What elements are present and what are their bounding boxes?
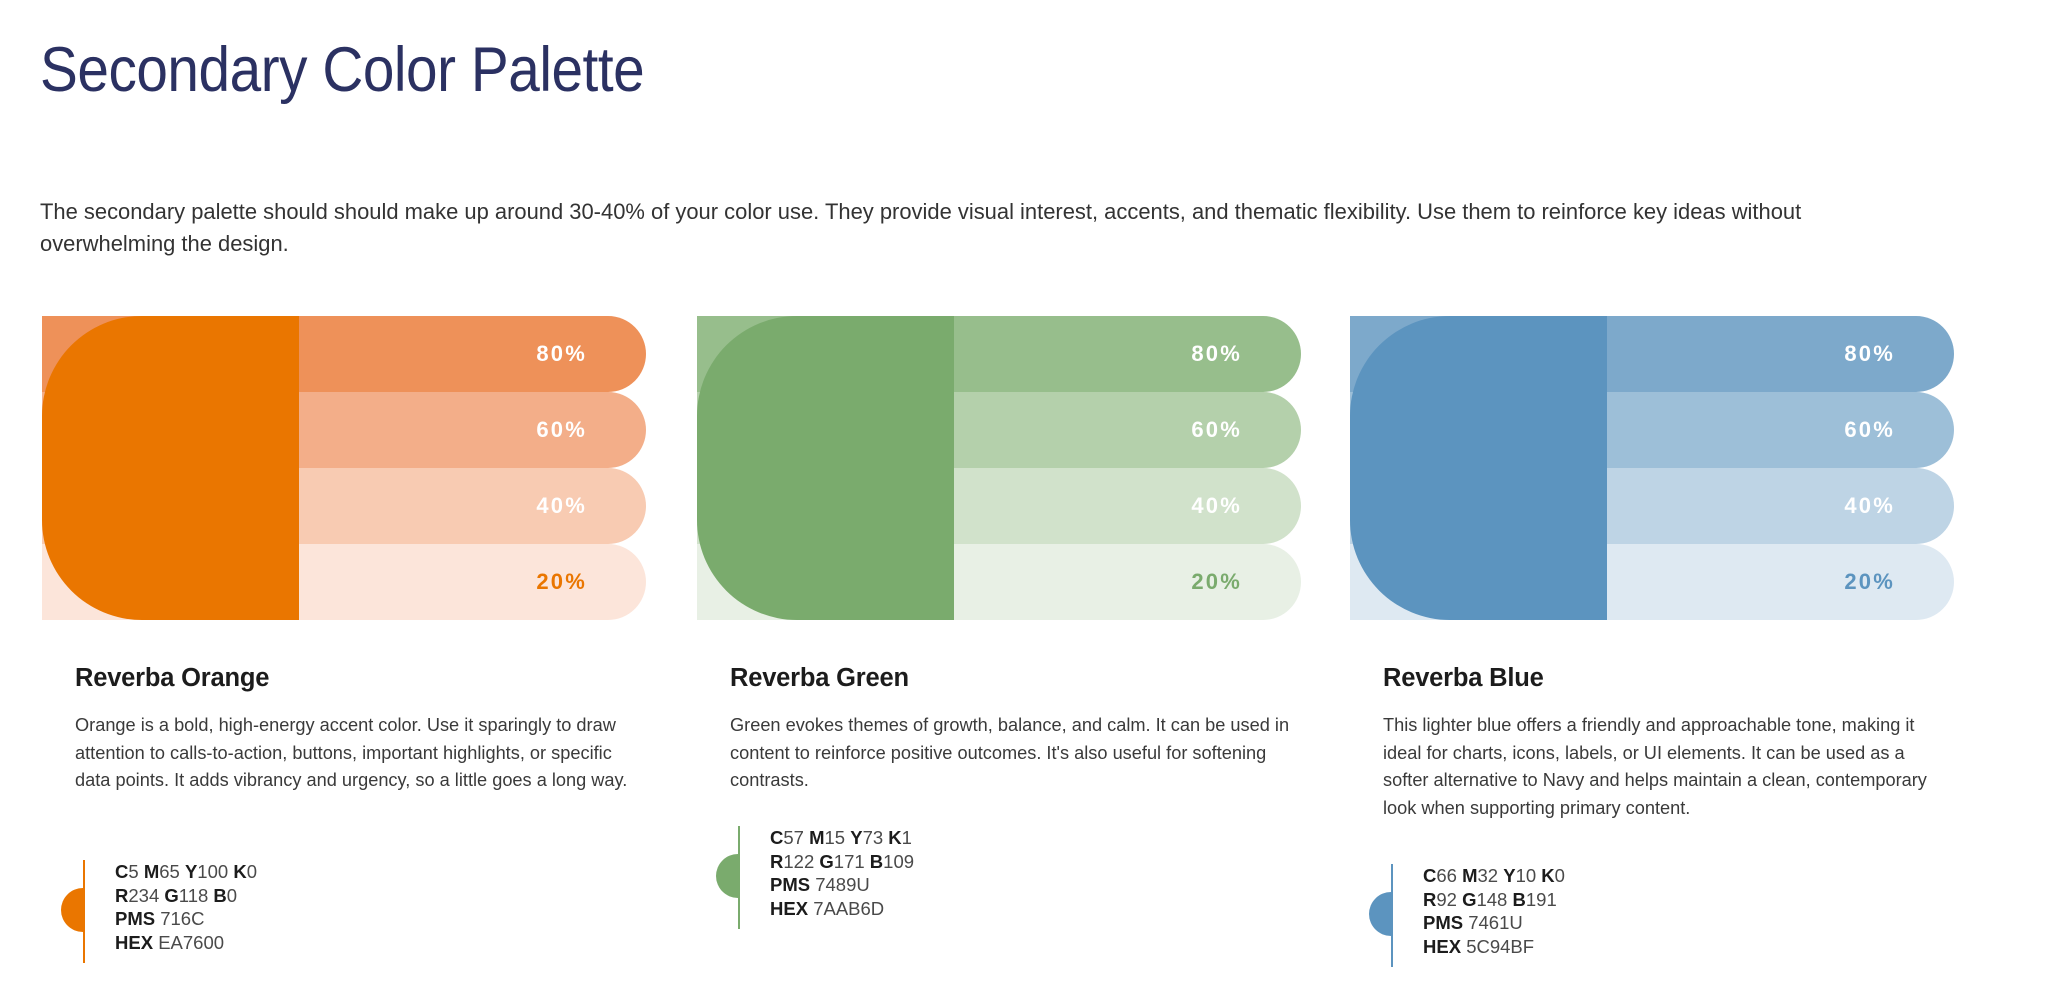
color-name: Reverba Blue — [1383, 664, 1544, 693]
spec-line-cmyk: C66 M32 Y10 K0 — [1423, 864, 1565, 888]
tint-label-40: 40% — [1191, 493, 1242, 519]
spec-line-rgb: R122 G171 B109 — [770, 850, 914, 874]
tint-label-40: 40% — [1844, 493, 1895, 519]
palette-card-1: 80% 60% 40% 20% Reverba Green Green evok… — [697, 0, 1351, 1004]
tint-label-80: 80% — [1844, 341, 1895, 367]
spec-values: C57 M15 Y73 K1 R122 G171 B109 PMS 7489U … — [770, 826, 914, 920]
spec-dot-icon — [61, 888, 83, 932]
tint-label-20: 20% — [1191, 569, 1242, 595]
color-spec-block: C57 M15 Y73 K1 R122 G171 B109 PMS 7489U … — [738, 826, 914, 920]
swatch-base-block — [42, 316, 299, 620]
tint-label-60: 60% — [1844, 417, 1895, 443]
tint-label-80: 80% — [536, 341, 587, 367]
color-description: This lighter blue offers a friendly and … — [1383, 712, 1953, 822]
spec-line-hex: HEX EA7600 — [115, 931, 257, 955]
spec-rule-line — [738, 826, 740, 929]
spec-rule-line — [83, 860, 85, 963]
spec-dot-icon — [716, 854, 738, 898]
tint-label-40: 40% — [536, 493, 587, 519]
color-swatch-0: 80% 60% 40% 20% — [42, 316, 646, 620]
spec-line-cmyk: C57 M15 Y73 K1 — [770, 826, 914, 850]
swatch-base-block — [697, 316, 954, 620]
spec-line-rgb: R234 G118 B0 — [115, 884, 257, 908]
spec-line-rgb: R92 G148 B191 — [1423, 888, 1565, 912]
spec-line-pms: PMS 716C — [115, 907, 257, 931]
spec-values: C66 M32 Y10 K0 R92 G148 B191 PMS 7461U H… — [1423, 864, 1565, 958]
palette-card-2: 80% 60% 40% 20% Reverba Blue This lighte… — [1350, 0, 2004, 1004]
spec-values: C5 M65 Y100 K0 R234 G118 B0 PMS 716C HEX… — [115, 860, 257, 954]
color-swatch-1: 80% 60% 40% 20% — [697, 316, 1301, 620]
swatch-base-block — [1350, 316, 1607, 620]
tint-label-20: 20% — [536, 569, 587, 595]
color-description: Orange is a bold, high-energy accent col… — [75, 712, 645, 795]
spec-rule-line — [1391, 864, 1393, 967]
tint-label-80: 80% — [1191, 341, 1242, 367]
spec-line-pms: PMS 7489U — [770, 873, 914, 897]
tint-label-60: 60% — [536, 417, 587, 443]
palette-card-0: 80% 60% 40% 20% Reverba Orange Orange is… — [42, 0, 696, 1004]
color-name: Reverba Green — [730, 664, 909, 693]
color-spec-block: C66 M32 Y10 K0 R92 G148 B191 PMS 7461U H… — [1391, 864, 1565, 958]
spec-dot-icon — [1369, 892, 1391, 936]
color-spec-block: C5 M65 Y100 K0 R234 G118 B0 PMS 716C HEX… — [83, 860, 257, 954]
spec-line-pms: PMS 7461U — [1423, 911, 1565, 935]
color-description: Green evokes themes of growth, balance, … — [730, 712, 1300, 795]
spec-line-cmyk: C5 M65 Y100 K0 — [115, 860, 257, 884]
color-swatch-2: 80% 60% 40% 20% — [1350, 316, 1954, 620]
tint-label-60: 60% — [1191, 417, 1242, 443]
palette-columns: 80% 60% 40% 20% Reverba Orange Orange is… — [0, 0, 2048, 1004]
spec-line-hex: HEX 5C94BF — [1423, 935, 1565, 959]
tint-label-20: 20% — [1844, 569, 1895, 595]
color-name: Reverba Orange — [75, 664, 269, 693]
spec-line-hex: HEX 7AAB6D — [770, 897, 914, 921]
